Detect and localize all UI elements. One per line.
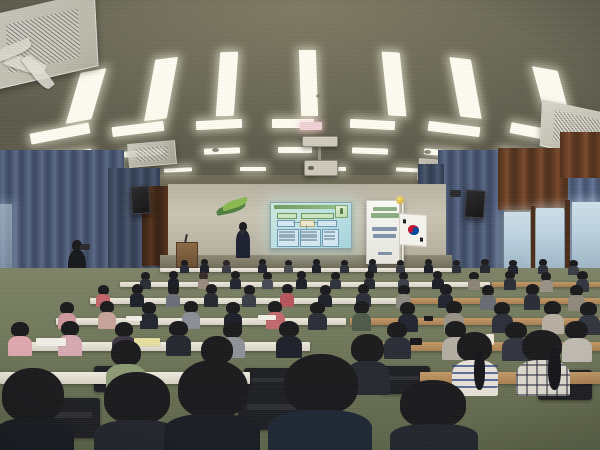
- video-camera: [80, 244, 90, 250]
- window-left-small: [0, 204, 12, 274]
- paper-sheet-1: [126, 316, 142, 321]
- wood-wall-panel-far-right: [560, 132, 600, 178]
- audience-foreground-far-left: [0, 368, 74, 450]
- exit-sign-light: [300, 122, 322, 130]
- presenter-microphone: [241, 230, 244, 235]
- taeguk-circle: [408, 224, 419, 236]
- slide-icon: [335, 205, 347, 219]
- slide-text-line-10: [324, 235, 335, 237]
- audience-foreground-center: [164, 360, 260, 450]
- ceiling-projector-bracket: [302, 136, 338, 147]
- slide-box-mid-right: [317, 220, 337, 227]
- slide-connector-1: [293, 222, 299, 223]
- slide-text-line-5: [301, 231, 317, 233]
- slide-text-line-6: [301, 234, 317, 236]
- slide-text-line-1: [279, 231, 295, 233]
- smoke-detector-2: [212, 148, 219, 152]
- banner-text-line-1: [373, 207, 396, 211]
- flag-pole-finial: [396, 196, 404, 204]
- banner-text-line-5: [378, 252, 392, 255]
- smoke-detector-3: [424, 150, 431, 154]
- window-mullion-1: [531, 206, 535, 272]
- banner-text-line-4: [373, 234, 395, 238]
- slide-box-mid-left: [277, 220, 295, 227]
- slide-text-line-2: [279, 234, 295, 236]
- slide-title-bar: [274, 205, 336, 209]
- ponytail-2: [548, 348, 561, 390]
- slide-text-line-9: [324, 231, 335, 233]
- ceiling-projector: [304, 160, 338, 176]
- wall-speaker-left: [130, 185, 151, 214]
- slide-text-line-8: [301, 239, 317, 241]
- wood-wall-panel-right: [498, 148, 568, 210]
- slide-box-header-left: [277, 213, 297, 219]
- korean-flag: [399, 213, 427, 247]
- auditorium-photo: [0, 0, 600, 450]
- slide-box-header-right: [301, 213, 333, 219]
- audience-foreground-far-right: [390, 380, 478, 450]
- smoke-detector-1: [316, 94, 323, 98]
- ceiling-ac-unit-center: [127, 140, 177, 168]
- smartphone-2: [410, 338, 422, 345]
- paper-sheet-3: [36, 338, 66, 346]
- slide-text-line-3: [279, 236, 295, 238]
- smartphone-1: [424, 316, 433, 321]
- wall-emblem: [216, 198, 250, 220]
- audience-plaid-right: [516, 330, 570, 390]
- presenter: [236, 222, 250, 258]
- wall-speaker-right: [464, 189, 486, 218]
- slide-text-line-7: [301, 236, 317, 238]
- slide-connector-2: [313, 222, 318, 223]
- paper-sheet-2: [258, 315, 276, 320]
- trigram-top-left-2: [403, 221, 406, 223]
- banner-text-line-2: [371, 213, 398, 218]
- projection-screen: [270, 202, 352, 249]
- slide-text-line-4: [279, 239, 295, 241]
- audience-foreground-right: [268, 354, 372, 450]
- slide-text-line-11: [324, 238, 335, 240]
- trigram-bottom-right-2: [420, 240, 423, 242]
- banner-text-line-3: [372, 227, 397, 231]
- security-camera: [450, 190, 461, 197]
